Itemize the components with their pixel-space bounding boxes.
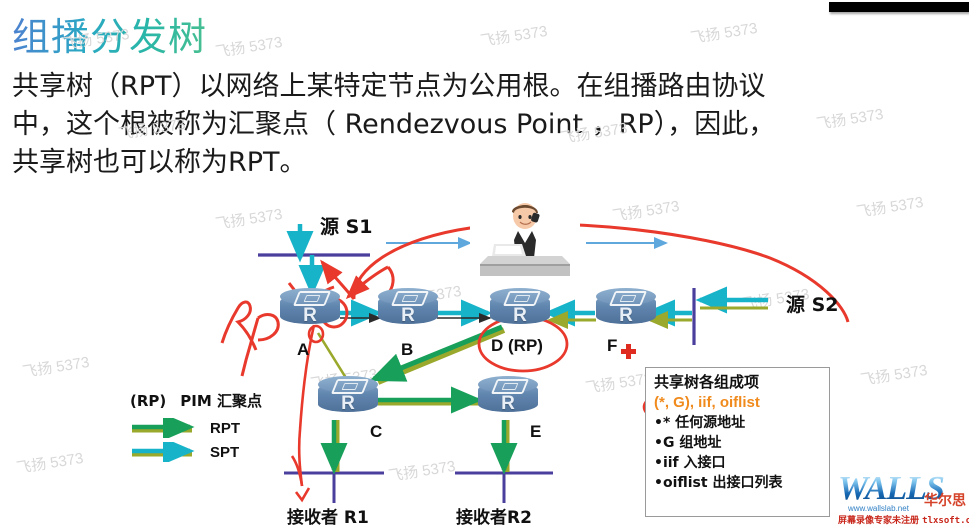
info-box-key: (*, G), iif, oiflist: [654, 392, 825, 413]
router-top: [318, 376, 378, 393]
router-node-d[interactable]: R: [490, 288, 550, 330]
router-top: [280, 288, 340, 305]
legend-label-spt: SPT: [210, 444, 239, 461]
rpt-flow-d-to-c: [374, 327, 504, 382]
notice-text: 屏幕录像专家未注册: [838, 516, 919, 526]
router-top: [596, 288, 656, 305]
router-top: [478, 376, 538, 393]
info-box-item: •oiflist 出接口列表: [654, 473, 825, 493]
router-glyph: R: [318, 393, 378, 415]
router-caption-b: B: [401, 340, 413, 360]
legend-item-rpt: RPT: [130, 417, 262, 439]
router-glyph: R: [280, 305, 340, 327]
source-label-s1: 源 S1: [320, 212, 373, 239]
notice-site: tlxsoft.c: [922, 516, 969, 526]
router-caption-d: D (RP): [491, 336, 543, 356]
router-glyph: R: [478, 393, 538, 415]
router-caption-a: A: [297, 340, 309, 360]
router-diamond-icon: [331, 379, 369, 394]
info-box-item: •iif 入接口: [654, 453, 825, 473]
router-caption-c: C: [370, 422, 382, 442]
screen-recorder-notice: 屏幕录像专家未注册 tlxsoft.c: [838, 513, 969, 526]
router-caption-e: E: [530, 422, 541, 442]
walls-logo-cn: 华尔思: [924, 490, 966, 510]
info-box-item: •G 组地址: [654, 433, 825, 453]
router-glyph: R: [378, 305, 438, 327]
legend-item-spt: SPT: [130, 441, 262, 463]
clipart-person-at-desk: [470, 200, 580, 280]
walls-logo-url: www.wallslab.net: [848, 504, 909, 513]
router-node-c[interactable]: R: [318, 376, 378, 418]
router-diamond-icon: [609, 291, 647, 306]
legend-rp-row: (RP)PIM 汇聚点: [130, 390, 262, 411]
legend-rp-desc: PIM 汇聚点: [180, 392, 262, 410]
slide-root: 组播分发树 共享树（RPT）以网络上某特定节点为公用根。在组播路由协议 中，这个…: [0, 0, 969, 530]
router-diamond-icon: [503, 291, 541, 306]
receiver-label-r1: 接收者 R1: [287, 503, 369, 528]
annotation-handwritten-rp: [222, 302, 278, 376]
router-diamond-icon: [391, 291, 429, 306]
router-node-f[interactable]: R: [596, 288, 656, 330]
info-box-title: 共享树各组成项: [654, 373, 825, 392]
legend-label-rpt: RPT: [210, 420, 240, 437]
shared-tree-info-box: 共享树各组成项 (*, G), iif, oiflist •* 任何源地址 •G…: [645, 367, 830, 517]
router-top: [378, 288, 438, 305]
router-diamond-icon: [293, 291, 331, 306]
rpt-flow-c-to-r1: [334, 420, 337, 472]
router-caption-f: F: [607, 336, 617, 356]
legend-rp-tag: (RP): [130, 392, 166, 410]
router-node-b[interactable]: R: [378, 288, 438, 330]
red-cross-icon: [621, 344, 636, 359]
lan-segment-r2: [455, 473, 553, 503]
legend-swatch-spt: [130, 442, 202, 462]
source-label-s2: 源 S2: [786, 290, 839, 317]
router-top: [490, 288, 550, 305]
router-diamond-icon: [491, 379, 529, 394]
legend-swatch-rpt: [130, 418, 202, 438]
info-box-item: •* 任何源地址: [654, 413, 825, 433]
walls-logo: WALLS 华尔思 www.wallslab.net 屏幕录像专家未注册 tlx…: [838, 468, 966, 526]
annotation-arrowhead-r1: [296, 488, 309, 500]
spt-flow-s1-to-a: [300, 224, 312, 292]
receiver-label-r2: 接收者R2: [456, 503, 532, 528]
lan-segment-r1: [284, 473, 384, 503]
legend: (RP)PIM 汇聚点 RPT: [130, 390, 262, 465]
router-glyph: R: [490, 305, 550, 327]
router-glyph: R: [596, 305, 656, 327]
rpt-flow-e-to-r2: [504, 420, 507, 472]
router-node-a[interactable]: R: [280, 288, 340, 330]
router-node-e[interactable]: R: [478, 376, 538, 418]
rpt-flow-c-to-e: [378, 400, 480, 403]
